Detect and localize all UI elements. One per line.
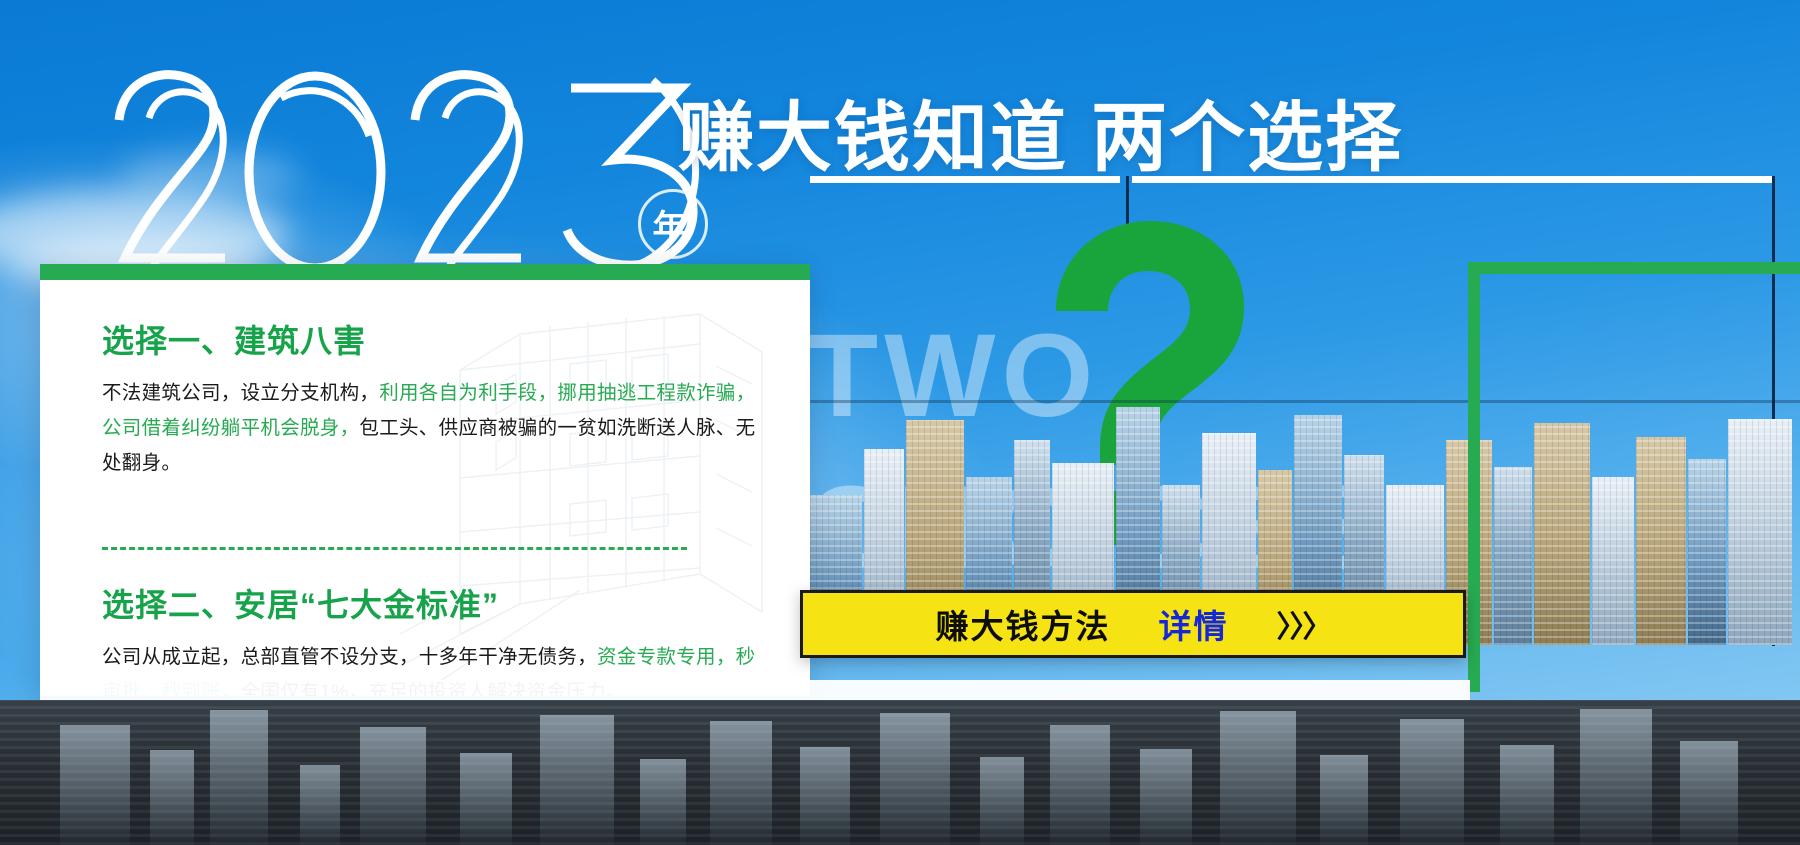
cta-button[interactable]: 赚大钱方法 详情 〉〉〉 [800,590,1466,658]
rule-segment-right [1132,176,1775,183]
rule-segment-left [810,176,1120,183]
section-divider [102,547,687,550]
section-title-1: 选择一、建筑八害 [102,316,776,362]
cta-sub-label: 详情 [1159,600,1229,648]
accent-bar-right-edge [1468,262,1480,692]
section-title-2: 选择二、安居“七大金标准” [102,580,792,626]
cta-main-label: 赚大钱方法 [936,600,1111,648]
cloud-decoration [120,150,300,198]
body-span-black: 不法建筑公司，设立分支机构， [102,382,379,404]
card-body: 选择一、建筑八害 不法建筑公司，设立分支机构，利用各自为利手段，挪用抽逃工程款诈… [40,264,810,481]
card-base-strip [40,680,1470,702]
year-unit-label: 年 [630,185,710,263]
banner-root: 年 赚大钱知道 两个选择 TWO CHOICES [0,0,1800,845]
card-body-2: 选择二、安居“七大金标准” 公司从成立起，总部直管不设分支，十多年干净无债务，资… [102,580,792,696]
section-body-1: 不法建筑公司，设立分支机构，利用各自为利手段，挪用抽逃工程款诈骗，公司借着纠纷躺… [102,376,774,481]
page-title: 赚大钱知道 两个选择 [678,76,1403,186]
body2-span-black: 公司从成立起，总部直管不设分支，十多年干净无债务， [102,646,597,668]
chevron-right-icon: 〉〉〉 [1277,602,1331,646]
accent-bar-top-right [1468,262,1800,274]
content-card: 选择一、建筑八害 不法建筑公司，设立分支机构，利用各自为利手段，挪用抽逃工程款诈… [40,264,810,696]
cityscape-photo-bottom [0,700,1800,845]
